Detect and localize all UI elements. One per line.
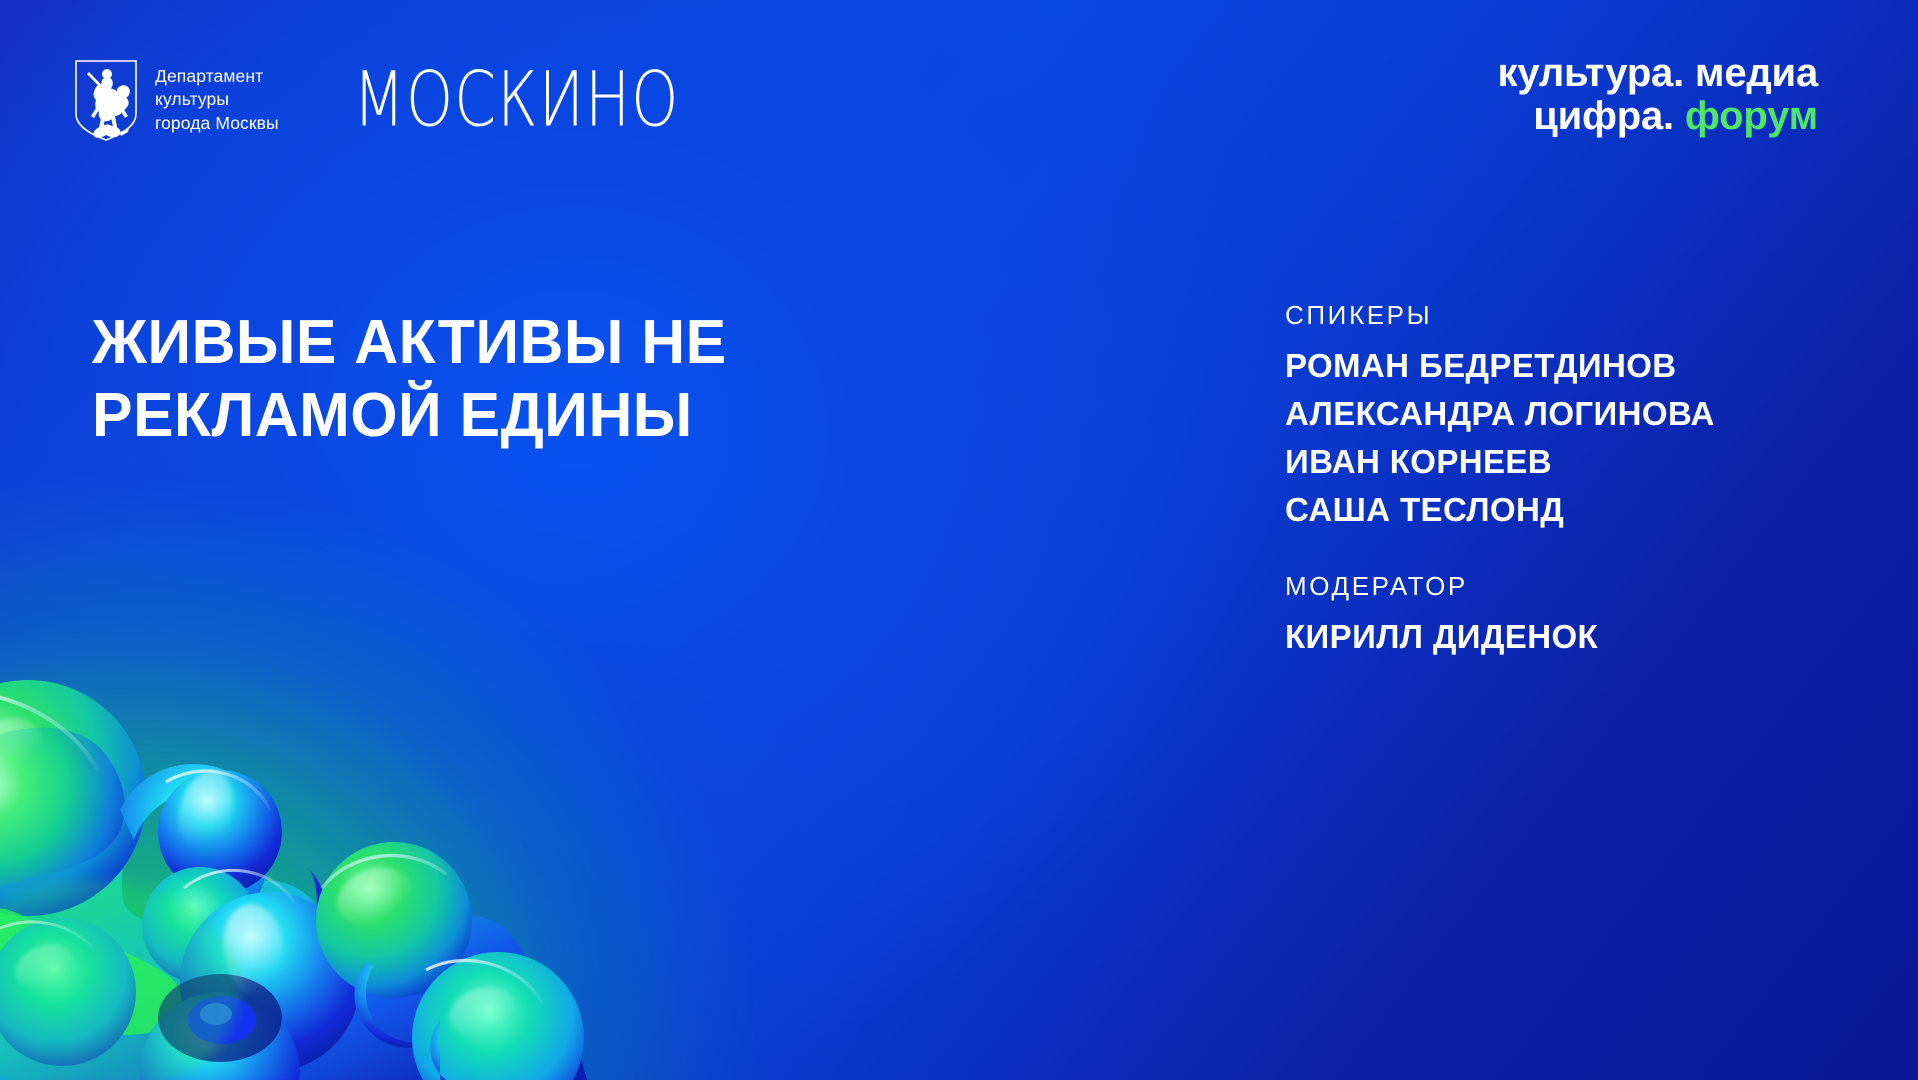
speaker-name: ИВАН КОРНЕЕВ	[1285, 438, 1885, 486]
participants-panel: СПИКЕРЫ РОМАН БЕДРЕТДИНОВ АЛЕКСАНДРА ЛОГ…	[1285, 300, 1885, 661]
speakers-group: СПИКЕРЫ РОМАН БЕДРЕТДИНОВ АЛЕКСАНДРА ЛОГ…	[1285, 300, 1885, 533]
department-of-culture-lockup: Департамент культуры города Москвы	[72, 58, 279, 142]
department-name: Департамент культуры города Москвы	[155, 65, 279, 135]
speakers-label: СПИКЕРЫ	[1285, 300, 1885, 331]
moderator-name: КИРИЛЛ ДИДЕНОК	[1285, 613, 1885, 661]
forum-line-2-prefix: цифра.	[1533, 94, 1685, 138]
slide-header: Департамент культуры города Москвы МОСКИ…	[0, 0, 1918, 180]
session-title: ЖИВЫЕ АКТИВЫ НЕ РЕКЛАМОЙ ЕДИНЫ	[92, 306, 740, 452]
brand-lockup-left: Департамент культуры города Москвы МОСКИ…	[72, 58, 689, 142]
forum-line-2: цифра. форум	[1498, 95, 1819, 138]
forum-accent-word: форум	[1685, 94, 1818, 138]
session-title-line-1: ЖИВЫЕ АКТИВЫ НЕ	[92, 306, 727, 379]
moscow-coat-of-arms-icon	[72, 58, 140, 142]
speaker-name: САША ТЕСЛОНД	[1285, 486, 1885, 534]
forum-brand-mark: культура. медиа цифра. форум	[1498, 52, 1819, 138]
presentation-slide: Департамент культуры города Москвы МОСКИ…	[0, 0, 1918, 1080]
moderator-label: МОДЕРАТОР	[1285, 571, 1885, 602]
speaker-name: АЛЕКСАНДРА ЛОГИНОВА	[1285, 390, 1885, 438]
session-title-line-2: РЕКЛАМОЙ ЕДИНЫ	[92, 379, 727, 452]
forum-line-1: культура. медиа	[1498, 52, 1819, 95]
moskino-wordmark: МОСКИНО	[353, 62, 679, 138]
speaker-name: РОМАН БЕДРЕТДИНОВ	[1285, 342, 1885, 390]
moderator-group: МОДЕРАТОР КИРИЛЛ ДИДЕНОК	[1285, 571, 1885, 661]
liquid-metaball-artwork	[0, 620, 590, 1080]
